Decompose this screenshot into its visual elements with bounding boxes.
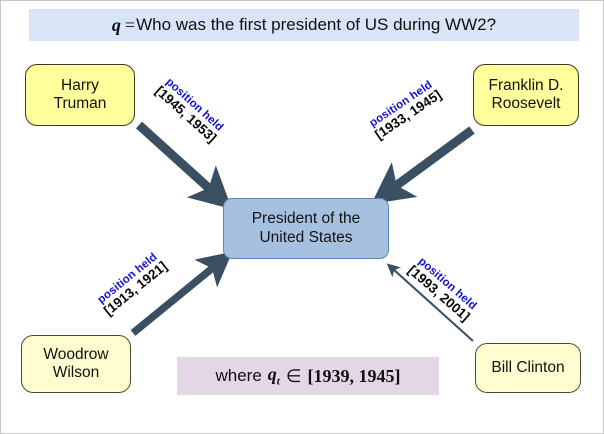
entity-node-label: Woodrow Wilson bbox=[43, 346, 108, 383]
entity-node-label-line2: Wilson bbox=[53, 364, 100, 381]
entity-node-harry-truman[interactable]: Harry Truman bbox=[25, 64, 135, 126]
entity-node-bill-clinton[interactable]: Bill Clinton bbox=[475, 343, 581, 393]
entity-node-label-line1: Woodrow bbox=[43, 346, 108, 363]
entity-node-label: Bill Clinton bbox=[491, 359, 564, 377]
entity-node-label: Franklin D. Roosevelt bbox=[489, 77, 564, 114]
entity-node-label-line2: Roosevelt bbox=[492, 95, 561, 112]
constraint-variable: qt bbox=[268, 364, 280, 388]
edge-arrow-roosevelt bbox=[393, 130, 472, 188]
entity-node-label-line1: Franklin D. bbox=[489, 77, 564, 94]
entity-node-label: Harry Truman bbox=[54, 77, 107, 114]
diagram-canvas: q = Who was the first president of US du… bbox=[0, 0, 604, 434]
constraint-banner: where qt ∈ [1939, 1945] bbox=[177, 357, 439, 395]
constraint-range: [1939, 1945] bbox=[308, 366, 401, 387]
center-node-label-line2: United States bbox=[259, 229, 352, 246]
constraint-element-of-symbol: ∈ bbox=[286, 366, 302, 387]
center-node-president-of-the-united-states[interactable]: President of the United States bbox=[223, 198, 389, 259]
center-node-label: President of the United States bbox=[252, 210, 361, 247]
entity-node-label-line1: Harry bbox=[61, 77, 99, 94]
constraint-where-label: where bbox=[215, 366, 261, 386]
entity-node-franklin-d-roosevelt[interactable]: Franklin D. Roosevelt bbox=[473, 64, 579, 126]
entity-node-label-line2: Truman bbox=[54, 95, 107, 112]
center-node-label-line1: President of the bbox=[252, 210, 361, 227]
entity-node-woodrow-wilson[interactable]: Woodrow Wilson bbox=[21, 335, 131, 393]
